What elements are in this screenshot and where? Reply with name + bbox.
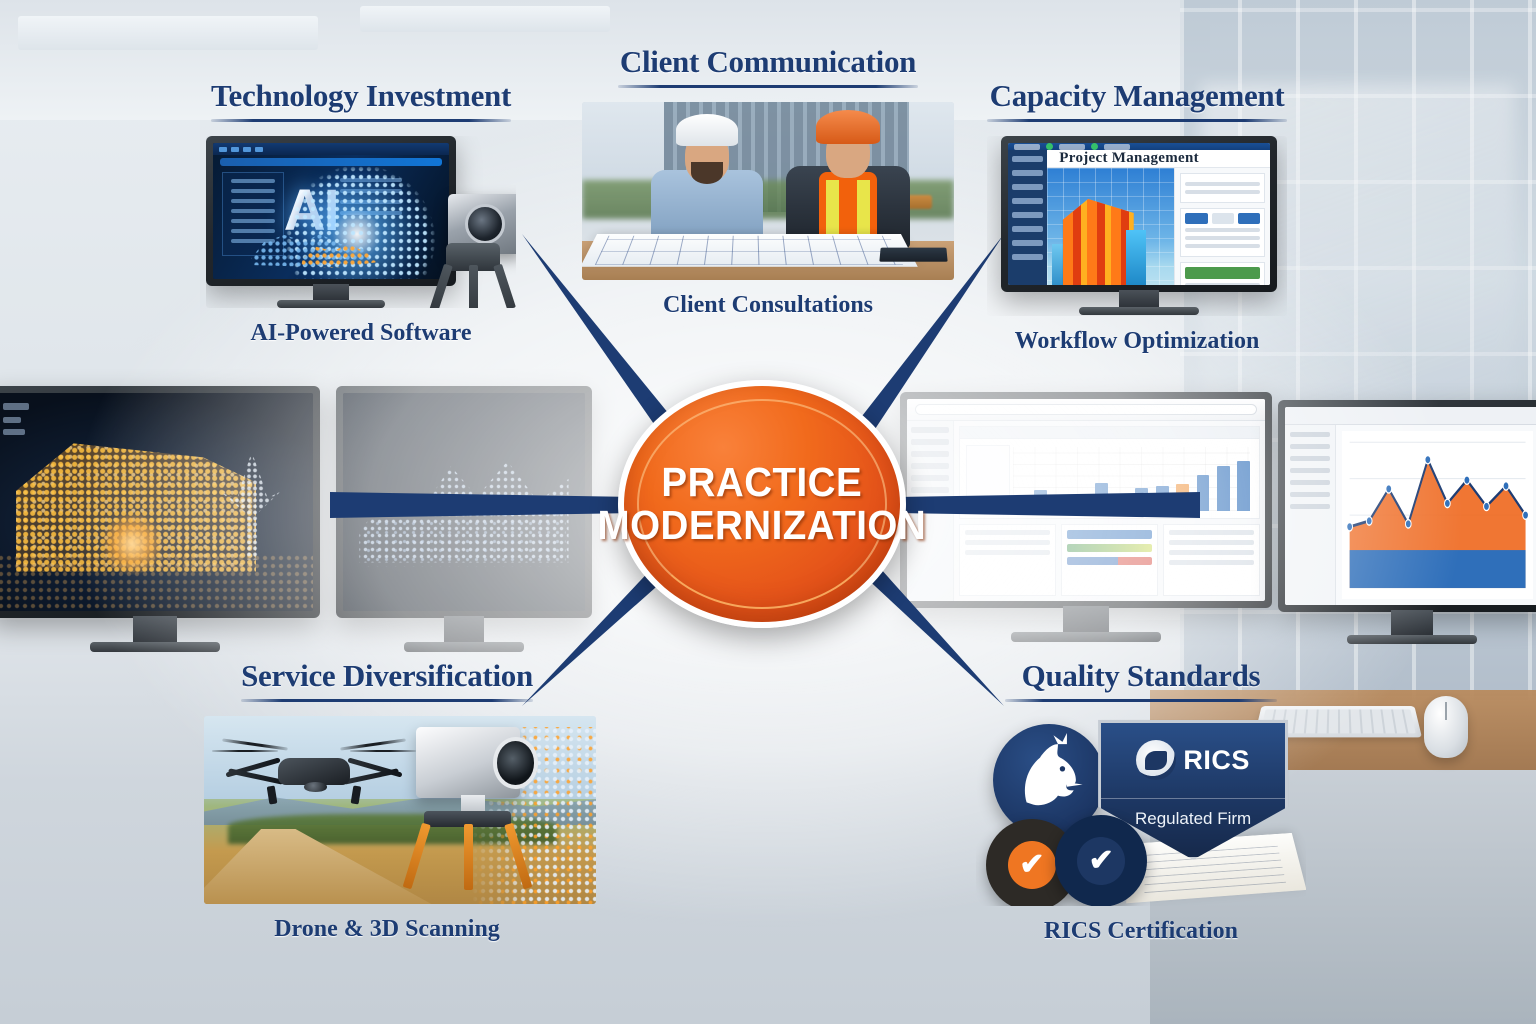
monitor-stand xyxy=(444,616,484,644)
dashboard-lower-cards xyxy=(959,524,1260,596)
panel-header xyxy=(960,427,1259,439)
infographic-canvas: Technology Investment AI xyxy=(0,0,1536,1024)
monitor-base xyxy=(1347,635,1477,644)
monitor-screen xyxy=(0,393,313,611)
monitor-stand xyxy=(133,616,177,644)
monitor-bezel xyxy=(336,386,592,618)
drone-rotor xyxy=(222,738,288,750)
hub-circle[interactable]: PRACTICE MODERNIZATION xyxy=(618,380,906,628)
trend-body xyxy=(1285,425,1536,605)
monitor-stand xyxy=(1063,606,1109,634)
app-main: Project Management xyxy=(1047,150,1270,285)
bar-chart-bar xyxy=(1135,488,1148,511)
primary-button[interactable] xyxy=(1185,213,1207,224)
tripod-leg xyxy=(403,822,431,889)
monitor-screen xyxy=(907,399,1265,601)
heading-underline xyxy=(211,119,511,122)
app-sidebar xyxy=(1008,150,1047,285)
trend-marker xyxy=(1464,476,1470,484)
client-consultation-photo xyxy=(582,102,954,280)
bar-chart-bars xyxy=(1013,447,1250,511)
browser-titlebar xyxy=(907,399,1265,421)
app-columns xyxy=(1047,168,1270,285)
node-media-pm-monitor: Project Management xyxy=(987,136,1287,316)
chart-legend xyxy=(966,445,1011,508)
tripod-leg xyxy=(493,263,516,308)
blueprint-plans xyxy=(582,234,918,267)
bar-chart-bar xyxy=(1074,495,1087,512)
node-caption: Client Consultations xyxy=(572,292,964,319)
drone-arm xyxy=(228,768,284,784)
bar-chart-panel xyxy=(959,426,1260,518)
baseline-band xyxy=(1349,550,1525,588)
drone-arm xyxy=(343,768,399,784)
dashboard-body xyxy=(907,421,1265,601)
monitor-stand xyxy=(1391,610,1433,636)
trend-marker xyxy=(1405,519,1411,527)
render-building-main xyxy=(1063,199,1134,285)
trend-marker xyxy=(1483,502,1489,510)
point-cloud-scene xyxy=(0,393,313,611)
node-heading: Capacity Management xyxy=(972,78,1302,114)
render-building-tower xyxy=(1126,230,1146,285)
trend-marker xyxy=(1386,484,1392,492)
node-service-diversification[interactable]: Service Diversification xyxy=(212,658,562,943)
bar-chart-bar xyxy=(1013,504,1026,512)
panel-status xyxy=(1180,262,1265,285)
heading-underline xyxy=(241,699,533,702)
heading-underline xyxy=(987,119,1287,122)
quality-seal-navy: ✔ xyxy=(1055,815,1147,906)
laser-scanner-icon xyxy=(408,727,541,889)
ceiling-light-panel xyxy=(18,16,318,50)
node-capacity-management[interactable]: Capacity Management xyxy=(972,78,1302,355)
node-technology-investment[interactable]: Technology Investment AI xyxy=(196,78,526,347)
notebook-binder xyxy=(879,248,947,262)
browser-url-bar xyxy=(915,404,1257,415)
computer-mouse xyxy=(1424,696,1468,758)
rics-logo-mark-icon xyxy=(1136,740,1176,780)
analytics-dashboard xyxy=(907,399,1265,601)
drone-rotor xyxy=(340,738,406,750)
monitor-bezel xyxy=(1278,400,1536,612)
dashboard-card xyxy=(1163,524,1260,596)
tripod-icon xyxy=(438,243,508,308)
monitor-base xyxy=(1079,307,1199,315)
app-page-title: Project Management xyxy=(1047,150,1270,168)
bar-chart-bar xyxy=(1217,466,1230,511)
person-left-client xyxy=(642,122,772,248)
trend-sidebar xyxy=(1285,425,1336,605)
node-media-ai-monitor: AI xyxy=(206,136,516,308)
background-monitor-trend-chart xyxy=(1278,400,1536,612)
node-caption: Drone & 3D Scanning xyxy=(212,916,562,943)
background-monitor-point-cloud xyxy=(0,386,320,618)
monitor-screen: AI xyxy=(213,143,449,279)
point-cloud-ground xyxy=(0,554,313,611)
node-heading: Quality Standards xyxy=(976,658,1306,694)
panel-search xyxy=(1180,173,1265,203)
node-heading: Technology Investment xyxy=(196,78,526,114)
ai-software-screen: AI xyxy=(213,143,449,279)
app-body: Project Management xyxy=(1008,150,1270,285)
app-url-bar xyxy=(220,158,442,166)
orange-hard-hat-icon xyxy=(816,110,880,144)
secondary-button[interactable] xyxy=(1212,213,1234,224)
background-monitor-wireframe xyxy=(336,386,592,618)
monitor-bezel xyxy=(0,386,320,618)
seal-check-icon: ✔ xyxy=(1077,837,1125,885)
monitor-screen: Project Management xyxy=(1008,143,1270,285)
heading-underline xyxy=(618,85,918,88)
heading-underline xyxy=(1005,699,1277,702)
bar-chart-bar xyxy=(1095,483,1108,511)
bar-chart-bar xyxy=(1054,497,1067,511)
browser-titlebar xyxy=(1285,407,1536,425)
trend-marker xyxy=(1522,511,1528,519)
drone-rotor xyxy=(350,750,416,753)
screen-ui-chip xyxy=(3,403,29,410)
drone-skid xyxy=(350,786,361,805)
node-caption: AI-Powered Software xyxy=(196,320,526,347)
badge-top: RICS xyxy=(1101,723,1285,799)
rics-wordmark: RICS xyxy=(1183,745,1250,776)
tripod-leg xyxy=(504,822,532,889)
trend-marker xyxy=(1366,517,1372,525)
app-toolbar xyxy=(1008,143,1270,150)
panel-actions xyxy=(1180,208,1265,257)
monitor-screen xyxy=(343,393,585,611)
trend-marker xyxy=(1444,499,1450,507)
ceiling-light-panel xyxy=(360,6,610,32)
bar-chart-bar xyxy=(1237,461,1250,511)
tripod-leg xyxy=(464,824,473,891)
drone-skid xyxy=(266,786,277,805)
project-management-monitor: Project Management xyxy=(1001,136,1277,292)
drone-icon xyxy=(231,735,396,803)
monitor-base xyxy=(277,300,385,308)
monitor-base xyxy=(1011,632,1161,642)
drone-rotor xyxy=(212,750,278,753)
dashboard-main xyxy=(954,421,1265,601)
scanner-lens xyxy=(493,737,538,789)
trend-marker xyxy=(1347,522,1353,530)
node-media-rics-badges: RICS Regulated Firm ✔ ✔ xyxy=(976,716,1306,906)
hub-title-line-1: PRACTICE xyxy=(662,461,863,504)
status-bar-green xyxy=(1185,267,1260,279)
screen-ui-chip xyxy=(3,429,25,435)
node-caption: RICS Certification xyxy=(976,918,1306,945)
hub-title-line-2: MODERNIZATION xyxy=(598,504,927,547)
monitor-screen xyxy=(1285,407,1536,605)
monitor-base xyxy=(90,642,220,652)
node-caption: Workflow Optimization xyxy=(972,328,1302,355)
primary-button[interactable] xyxy=(1238,213,1260,224)
dashboard-card xyxy=(959,524,1056,596)
trend-marker xyxy=(1503,482,1509,490)
monitor-base xyxy=(404,642,524,652)
ai-monitor: AI xyxy=(206,136,456,286)
node-heading: Client Communication xyxy=(572,44,964,80)
node-media-drone-scanner xyxy=(204,716,596,904)
screen-ui-chip xyxy=(3,417,21,423)
bar-chart-bar xyxy=(1176,484,1189,511)
node-client-communication[interactable]: Client Communication xyxy=(572,44,964,319)
trend-marker xyxy=(1425,455,1431,463)
bar-chart-bar xyxy=(1034,490,1047,512)
monitor-bezel: Project Management xyxy=(1001,136,1277,292)
app-toolbar xyxy=(213,143,449,155)
project-management-app: Project Management xyxy=(1008,143,1270,285)
center-hub[interactable]: PRACTICE MODERNIZATION xyxy=(618,380,906,628)
drone-body xyxy=(278,758,350,785)
node-heading: Service Diversification xyxy=(212,658,562,694)
monitor-bezel xyxy=(900,392,1272,608)
node-media-consultation xyxy=(582,102,954,280)
button-row[interactable] xyxy=(1185,213,1260,224)
bar-chart-bar xyxy=(1115,506,1128,511)
certification-badges: RICS Regulated Firm ✔ ✔ xyxy=(976,716,1306,906)
background-monitor-dashboard xyxy=(900,392,1272,608)
wireframe-scene xyxy=(343,393,585,611)
app-right-panels xyxy=(1174,168,1270,285)
node-quality-standards[interactable]: Quality Standards RICS xyxy=(976,658,1306,945)
seal-check-icon: ✔ xyxy=(1008,841,1056,889)
tripod-leg xyxy=(469,265,478,308)
field-survey-photo xyxy=(204,716,596,904)
drone-camera-gimbal xyxy=(304,782,327,791)
area-chart-svg xyxy=(1342,431,1533,599)
person-right-surveyor xyxy=(778,116,918,248)
white-hard-hat-icon xyxy=(676,114,738,146)
building-render-viewport xyxy=(1047,168,1174,285)
bar-chart-bar xyxy=(1197,475,1210,511)
scanner-tripod-icon xyxy=(416,811,520,889)
person-beard xyxy=(691,162,723,184)
dashboard-card xyxy=(1061,524,1158,596)
monitor-bezel: AI xyxy=(206,136,456,286)
trend-dashboard xyxy=(1285,407,1536,605)
bar-chart-bar xyxy=(1156,486,1169,512)
area-chart-plot xyxy=(1342,431,1533,599)
